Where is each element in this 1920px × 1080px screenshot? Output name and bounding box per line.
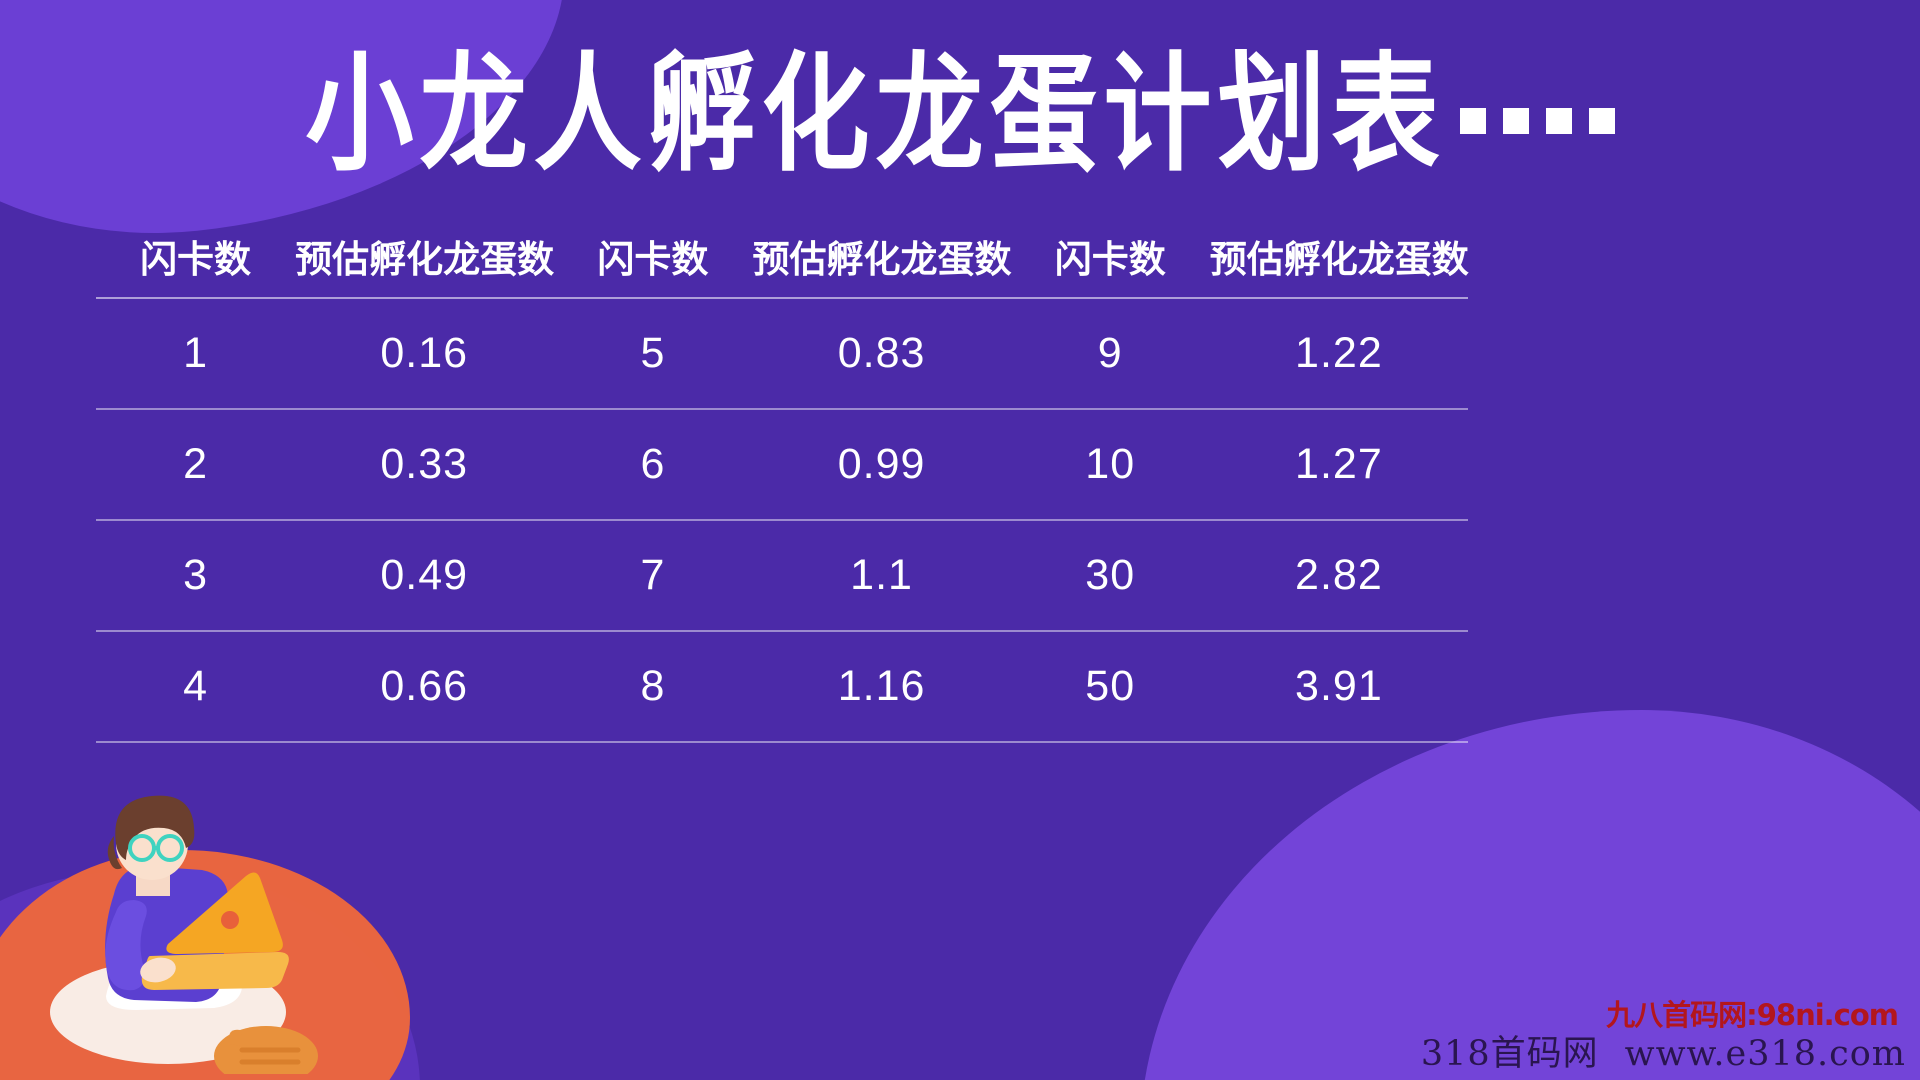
cell-flashcards: 2 <box>96 409 295 520</box>
cell-flashcards: 9 <box>1011 298 1210 409</box>
cell-flashcards: 5 <box>553 298 752 409</box>
watermark-dark-site-name: 318首码网 <box>1421 1034 1599 1074</box>
column-header-flashcards-1: 闪卡数 <box>96 240 295 298</box>
column-header-flashcards-3: 闪卡数 <box>1011 240 1210 298</box>
cell-eggs: 0.99 <box>752 409 1010 520</box>
table-row: 1 0.16 5 0.83 9 1.22 <box>96 298 1468 409</box>
cell-eggs: 3.91 <box>1210 631 1468 742</box>
column-header-eggs-3: 预估孵化龙蛋数 <box>1210 240 1468 298</box>
plan-table: 闪卡数 预估孵化龙蛋数 闪卡数 预估孵化龙蛋数 闪卡数 预估孵化龙蛋数 1 0.… <box>96 240 1468 743</box>
tofu-box-3 <box>1546 108 1572 134</box>
table-row: 2 0.33 6 0.99 10 1.27 <box>96 409 1468 520</box>
cell-flashcards: 3 <box>96 520 295 631</box>
plan-table-container: 闪卡数 预估孵化龙蛋数 闪卡数 预估孵化龙蛋数 闪卡数 预估孵化龙蛋数 1 0.… <box>96 240 1468 743</box>
page-title-container: 小龙人孵化龙蛋计划表 <box>0 52 1920 160</box>
cell-eggs: 0.66 <box>295 631 553 742</box>
laptop-logo <box>221 911 239 929</box>
table-row: 4 0.66 8 1.16 50 3.91 <box>96 631 1468 742</box>
cell-eggs: 2.82 <box>1210 520 1468 631</box>
cell-flashcards: 7 <box>553 520 752 631</box>
cell-eggs: 0.83 <box>752 298 1010 409</box>
table-header: 闪卡数 预估孵化龙蛋数 闪卡数 预估孵化龙蛋数 闪卡数 预估孵化龙蛋数 <box>96 240 1468 298</box>
tofu-box-4 <box>1589 108 1615 134</box>
column-header-eggs-1: 预估孵化龙蛋数 <box>295 240 553 298</box>
tofu-box-1 <box>1460 108 1486 134</box>
cell-eggs: 1.16 <box>752 631 1010 742</box>
title-missing-glyph-boxes <box>1460 108 1615 139</box>
column-header-eggs-2: 预估孵化龙蛋数 <box>752 240 1010 298</box>
table-header-row: 闪卡数 预估孵化龙蛋数 闪卡数 预估孵化龙蛋数 闪卡数 预估孵化龙蛋数 <box>96 240 1468 298</box>
cell-eggs: 1.27 <box>1210 409 1468 520</box>
watermark-dark: 318首码网www.e318.com <box>1421 1025 1906 1076</box>
page-title: 小龙人孵化龙蛋计划表 <box>305 52 1445 179</box>
tofu-box-2 <box>1503 108 1529 134</box>
cell-flashcards: 10 <box>1011 409 1210 520</box>
cell-eggs: 0.49 <box>295 520 553 631</box>
cell-flashcards: 8 <box>553 631 752 742</box>
cell-flashcards: 4 <box>96 631 295 742</box>
cell-eggs: 0.16 <box>295 298 553 409</box>
table-row: 3 0.49 7 1.1 30 2.82 <box>96 520 1468 631</box>
person-with-laptop-illustration <box>18 744 348 1074</box>
cell-eggs: 1.1 <box>752 520 1010 631</box>
cell-flashcards: 6 <box>553 409 752 520</box>
cell-eggs: 0.33 <box>295 409 553 520</box>
table-body: 1 0.16 5 0.83 9 1.22 2 0.33 6 0.99 10 1.… <box>96 298 1468 742</box>
watermark-dark-url: www.e318.com <box>1625 1034 1906 1074</box>
cell-eggs: 1.22 <box>1210 298 1468 409</box>
cell-flashcards: 30 <box>1011 520 1210 631</box>
cell-flashcards: 1 <box>96 298 295 409</box>
cat-ear <box>229 1030 243 1046</box>
column-header-flashcards-2: 闪卡数 <box>553 240 752 298</box>
cell-flashcards: 50 <box>1011 631 1210 742</box>
